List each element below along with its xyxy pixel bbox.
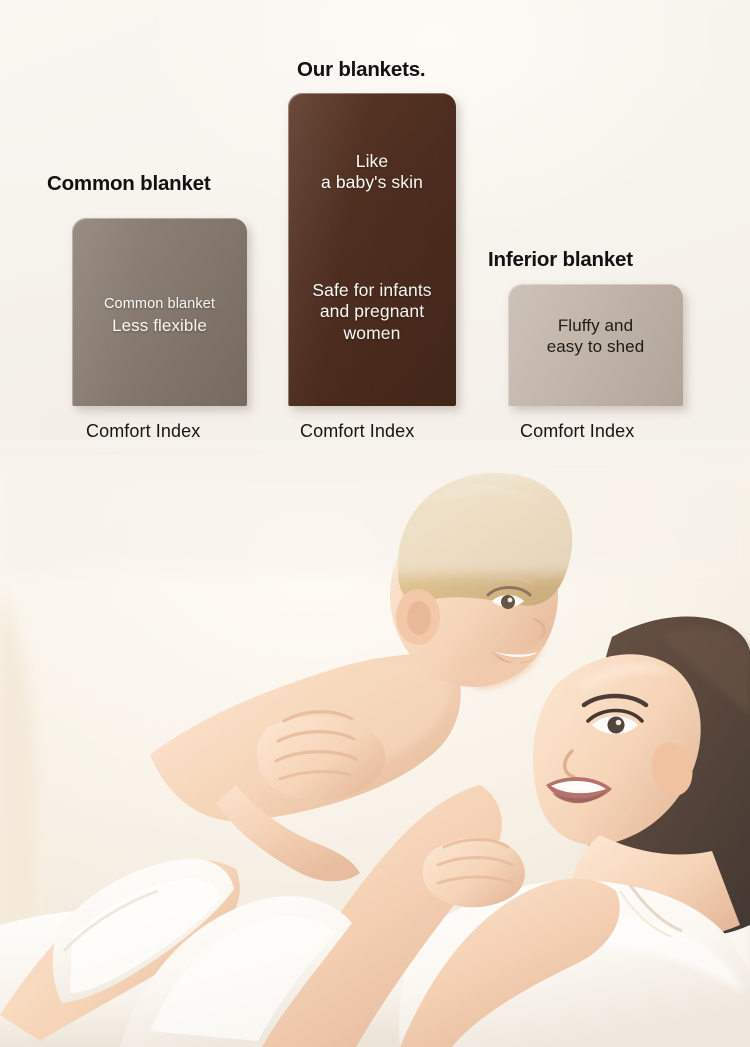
bar-label-line: and pregnant xyxy=(320,301,424,321)
bar-our-blankets: Like a baby's skin Safe for infants and … xyxy=(288,93,456,406)
axis-label-common-blanket: Comfort Index xyxy=(86,421,200,442)
axis-label-inferior-blanket: Comfort Index xyxy=(520,421,634,442)
bar-label-line: easy to shed xyxy=(547,337,645,356)
bar-label-line: a baby's skin xyxy=(321,172,423,192)
column-heading-common-blanket: Common blanket xyxy=(47,172,211,196)
page-root: Common blanket Common blanket Less flexi… xyxy=(0,0,750,1047)
bar-chart: Common blanket Common blanket Less flexi… xyxy=(0,0,750,470)
column-heading-inferior-blanket: Inferior blanket xyxy=(488,248,633,272)
bar-label-inferior-blanket: Fluffy and easy to shed xyxy=(508,316,683,357)
bar-label-our-blankets-top: Like a baby's skin xyxy=(288,151,456,194)
column-heading-our-blankets: Our blankets. xyxy=(297,58,425,82)
axis-label-our-blankets: Comfort Index xyxy=(300,421,414,442)
bar-label-common-blanket-line1: Common blanket xyxy=(72,296,247,314)
bar-label-line: Fluffy and xyxy=(558,316,633,335)
bar-label-line: Safe for infants xyxy=(312,280,431,300)
comfort-index-infographic: Common blanket Common blanket Less flexi… xyxy=(0,0,750,470)
bar-label-line: Like xyxy=(356,151,389,171)
lifestyle-photo-mother-and-baby xyxy=(0,455,750,1047)
bar-label-common-blanket-line2: Less flexible xyxy=(72,316,247,337)
bar-label-line: women xyxy=(344,323,401,343)
bar-label-our-blankets-bottom: Safe for infants and pregnant women xyxy=(288,280,456,344)
bar-common-blanket: Common blanket Less flexible xyxy=(72,218,247,406)
bar-inferior-blanket: Fluffy and easy to shed xyxy=(508,284,683,406)
